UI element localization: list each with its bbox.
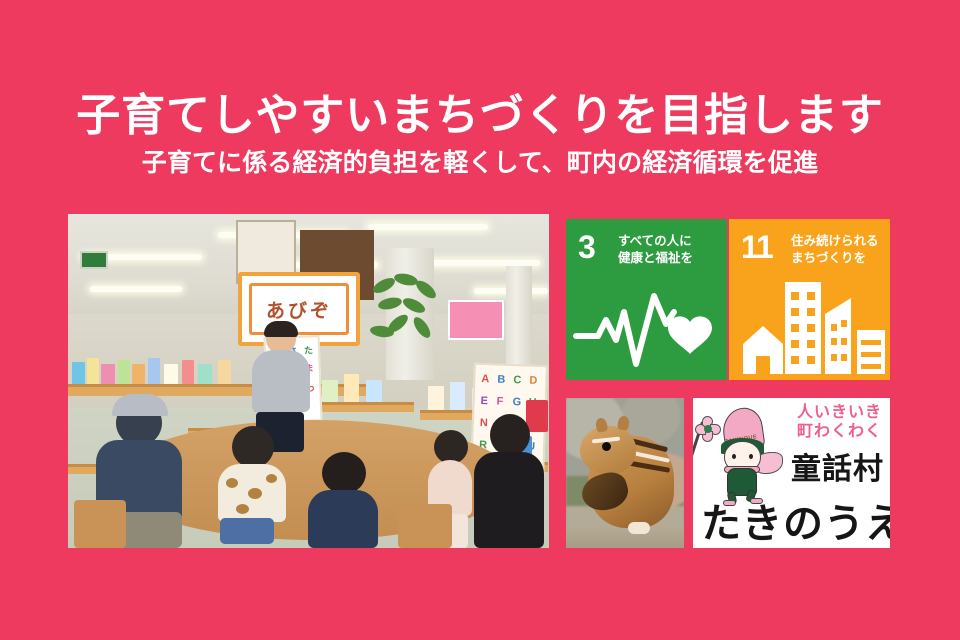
sdg-3-line1: すべての人に [618,234,692,248]
book [164,364,178,384]
book [344,374,359,402]
book [118,360,130,384]
cityscape-buildings-icon [729,278,890,374]
library-photo: あびぞ か さ た な は ま や ら わ ん [68,214,549,548]
sdg-3-number: 3 [578,231,595,263]
logo-name-bottom: たきのうえ [701,504,883,544]
book [218,360,231,384]
pink-notice-poster [448,300,504,340]
mascot-eye [732,454,736,459]
sdg-3-line2: 健康と福祉を [618,251,693,265]
book [322,380,338,402]
book [450,382,465,410]
logo-tagline: 人いきいき 町わくわく [797,404,882,442]
sdg-11-line2: まちづくりを [791,251,866,265]
gravel-ground [566,526,684,548]
book [87,358,99,384]
book [366,380,382,402]
potted-plant [368,274,446,346]
book [132,364,145,384]
chipmunk-eye [602,442,611,451]
book [72,362,85,384]
person-adult-right [472,414,544,548]
page-title: 子育てしやすいまちづくりを目指します [0,92,960,140]
chipmunk-ear [617,415,630,430]
chipmunk-photo [566,398,684,548]
ceiling-lamp [90,286,182,292]
page-subtitle: 子育てに係る経済的負担を軽くして、町内の経済循環を促進 [0,148,960,178]
book [101,364,115,384]
sdg-11-text: 住み続けられる まちづくりを [791,233,879,267]
chair [74,500,126,548]
logo-tagline-line1: 人いきいき [797,404,882,421]
mascot-eye [749,454,753,459]
book [182,360,194,384]
sdg-11-number: 11 [741,231,773,263]
sdg-3-text: すべての人に 健康と福祉を [618,233,693,267]
logo-tagline-line2: 町わくわく [797,423,882,440]
exit-sign-icon [80,251,108,269]
takinoue-mascot-icon: TAKINOUE [697,408,783,500]
chair [398,504,452,548]
takinoue-village-logo: TAKINOUE 人いきいき 町わくわく 童話村 たきのうえ [693,398,890,548]
book [198,364,212,384]
mascot-flower-icon [695,416,721,442]
person-child-right [308,452,378,548]
book [428,386,444,410]
sdg-badge-11: 11 住み続けられる まちづくりを [729,219,890,380]
person-child-center [216,426,288,544]
logo-name-top: 童話村 [791,444,884,488]
book [148,358,160,384]
sdg-11-line1: 住み続けられる [791,234,879,248]
ceiling-lamp [368,224,488,230]
chipmunk-paw [628,522,650,534]
sdg-badge-3: 3 すべての人に 健康と福祉を [566,219,727,380]
heartbeat-heart-icon [566,278,727,374]
headline-block: 子育てしやすいまちづくりを目指します 子育てに係る経済的負担を軽くして、町内の経… [0,92,960,178]
